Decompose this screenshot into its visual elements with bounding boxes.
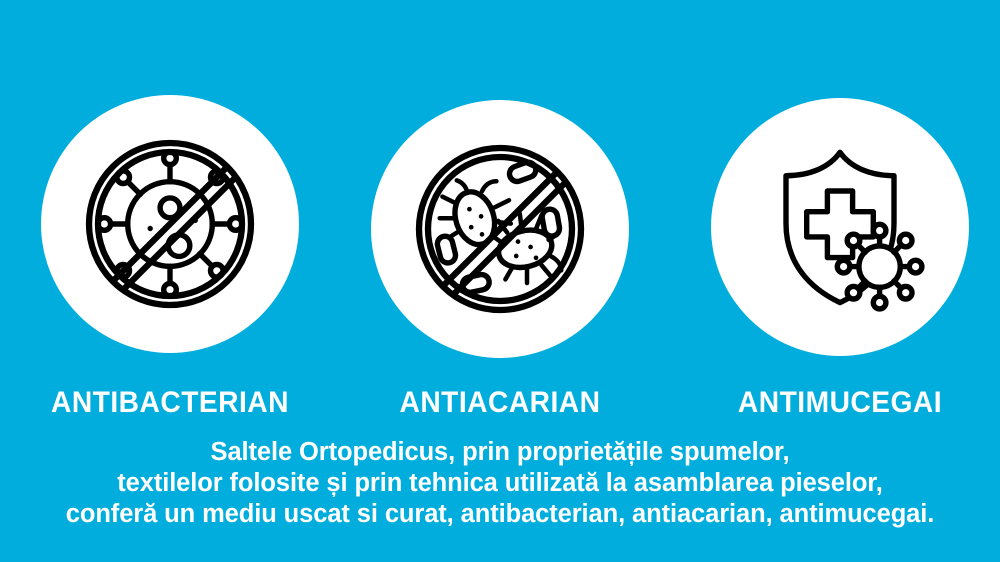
feature-icon-antimould [711, 98, 969, 356]
shield-cross-virus-icon [750, 137, 930, 317]
description-line-1: Saltele Ortopedicus, prin proprietățile … [0, 437, 1000, 468]
promo-banner: ANTIBACTERIAN ANTIACARIAN ANTIMUCEGAI Sa… [0, 0, 1000, 562]
description-paragraph: Saltele Ortopedicus, prin proprietățile … [0, 437, 1000, 530]
description-line-2: textilelor folosite și prin tehnica util… [0, 468, 1000, 499]
feature-icon-row [0, 95, 1000, 357]
feature-icon-antibacterial [41, 95, 299, 353]
feature-label-row: ANTIBACTERIAN ANTIACARIAN ANTIMUCEGAI [0, 382, 1000, 424]
no-bacteria-icon [80, 134, 260, 314]
description-line-3: conferă un mediu uscat si curat, antibac… [0, 499, 1000, 530]
feature-label-antimite: ANTIACARIAN [368, 382, 631, 424]
feature-icon-antimite [371, 100, 629, 358]
no-dust-mite-icon [410, 139, 590, 319]
feature-label-antibacterial: ANTIBACTERIAN [29, 382, 311, 424]
feature-label-antimould: ANTIMUCEGAI [708, 382, 971, 424]
